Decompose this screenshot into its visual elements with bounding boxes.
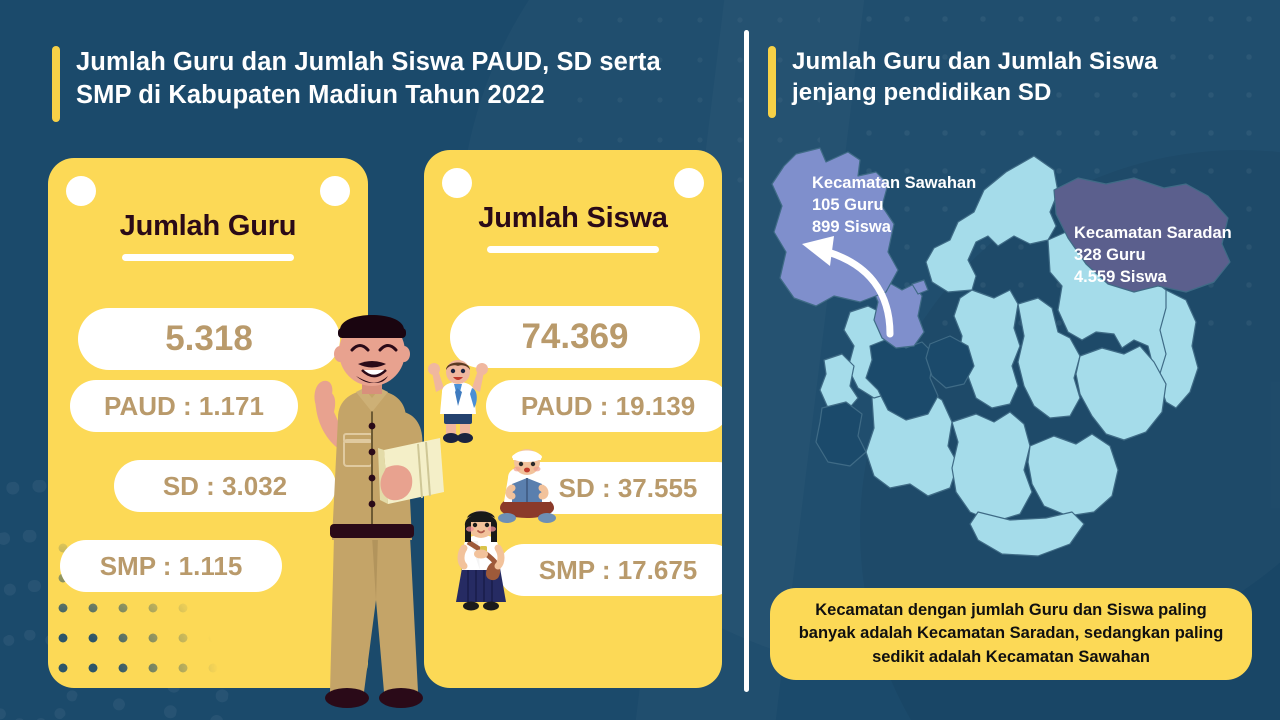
saradan-teachers: 328 Guru — [1074, 244, 1232, 266]
card-title-underline — [487, 246, 659, 253]
card-header-siswa: Jumlah Siswa — [424, 202, 722, 253]
map-label-saradan: Kecamatan Saradan 328 Guru 4.559 Siswa — [1074, 222, 1232, 288]
district-southeast — [1028, 434, 1118, 516]
student-girl-icon — [450, 508, 512, 614]
sawahan-name: Kecamatan Sawahan — [812, 172, 976, 194]
card-title-siswa: Jumlah Siswa — [424, 202, 722, 235]
infographic-canvas: Jumlah Guru dan Jumlah Siswa PAUD, SD se… — [0, 0, 1280, 720]
panel-divider — [744, 30, 749, 692]
saradan-name: Kecamatan Saradan — [1074, 222, 1232, 244]
left-panel-title: Jumlah Guru dan Jumlah Siswa PAUD, SD se… — [52, 46, 712, 122]
card-notch-left-icon — [66, 176, 96, 206]
card-header-guru: Jumlah Guru — [48, 210, 368, 261]
guru-row-paud: PAUD : 1.171 — [70, 380, 298, 432]
card-notch-left-icon — [442, 168, 472, 198]
sawahan-teachers: 105 Guru — [812, 194, 976, 216]
right-title-text: Jumlah Guru dan Jumlah Siswa jenjang pen… — [792, 46, 1238, 108]
card-title-guru: Jumlah Guru — [48, 210, 368, 243]
saradan-students: 4.559 Siswa — [1074, 266, 1232, 288]
map-label-sawahan: Kecamatan Sawahan 105 Guru 899 Siswa — [812, 172, 976, 238]
title-accent-bar-left — [52, 46, 60, 122]
card-notch-right-icon — [320, 176, 350, 206]
guru-row-smp: SMP : 1.115 — [60, 540, 282, 592]
card-title-underline — [122, 254, 294, 261]
district-south-center — [952, 412, 1032, 522]
district-east-south — [1076, 346, 1166, 440]
sawahan-students: 899 Siswa — [812, 216, 976, 238]
siswa-row-paud: PAUD : 19.139 — [486, 380, 722, 432]
district-highlight-dark-2 — [816, 402, 866, 466]
siswa-row-smp: SMP : 17.675 — [498, 544, 722, 596]
student-cheering-icon — [424, 358, 492, 448]
district-south-tail — [970, 512, 1084, 556]
map-footnote-box: Kecamatan dengan jumlah Guru dan Siswa p… — [770, 588, 1252, 680]
card-notch-right-icon — [674, 168, 704, 198]
title-accent-bar-right — [768, 46, 776, 118]
left-title-text: Jumlah Guru dan Jumlah Siswa PAUD, SD se… — [76, 46, 712, 112]
map-footnote-text: Kecamatan dengan jumlah Guru dan Siswa p… — [786, 599, 1236, 669]
right-panel-title: Jumlah Guru dan Jumlah Siswa jenjang pen… — [768, 46, 1238, 118]
